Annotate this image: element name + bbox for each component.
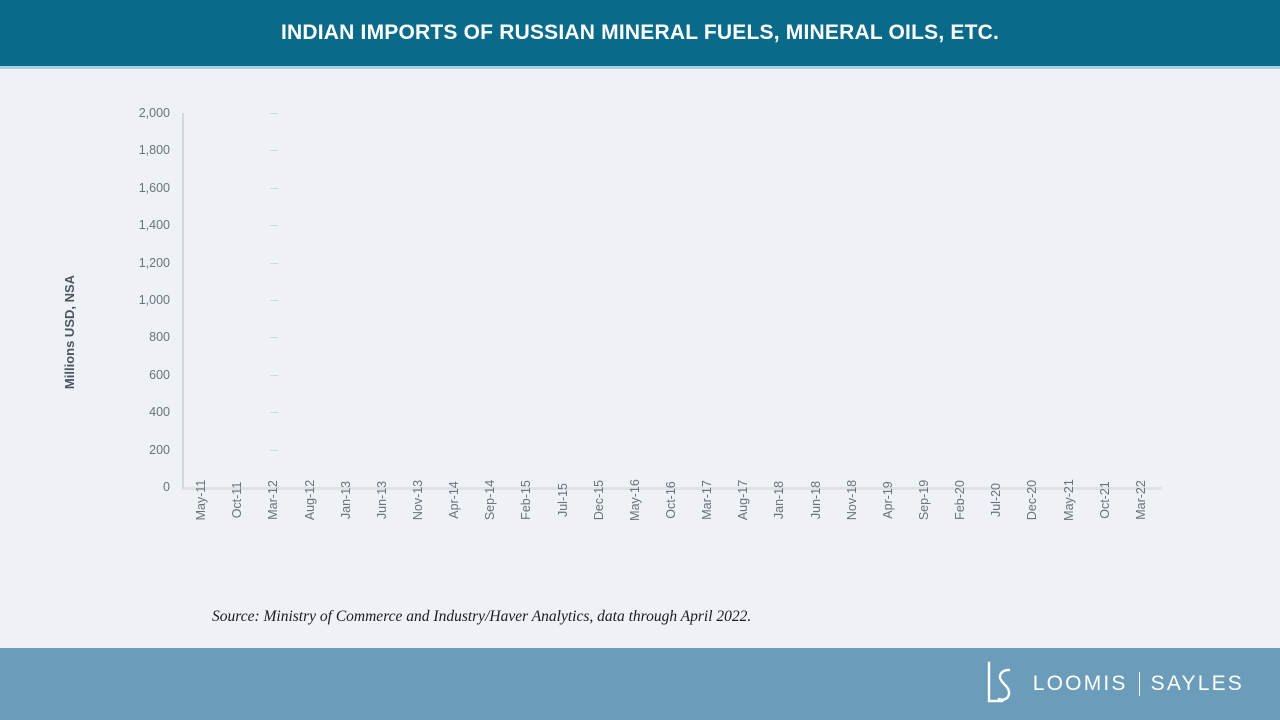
x-axis-tick-label: Nov-13 <box>411 465 425 535</box>
chart-region: Millions USD, NSA 2,0001,8001,6001,4001,… <box>0 72 1280 648</box>
x-axis-tick-label: Feb-20 <box>953 465 967 535</box>
y-axis-tick-label: 1,000 <box>96 291 170 309</box>
footer-bar: LOOMIS SAYLES <box>0 648 1280 720</box>
x-axis-tick-label: Aug-12 <box>303 465 317 535</box>
x-axis-tick-label: Oct-11 <box>230 465 244 535</box>
x-axis-tick-label: Oct-21 <box>1098 465 1112 535</box>
x-axis-tick-label: Feb-15 <box>519 465 533 535</box>
plot-area <box>182 113 1162 490</box>
x-axis-tick-label: May-16 <box>628 465 642 535</box>
x-axis-tick-label: Apr-14 <box>447 465 461 535</box>
x-axis-tick-label: Jun-13 <box>375 465 389 535</box>
x-axis-tick-label: Oct-16 <box>664 465 678 535</box>
brand-name-sayles: SAYLES <box>1151 672 1244 696</box>
page-title: INDIAN IMPORTS OF RUSSIAN MINERAL FUELS,… <box>281 21 999 45</box>
x-axis-tick-label: Jul-15 <box>556 465 570 535</box>
brand-divider <box>1139 672 1140 696</box>
ls-monogram-icon <box>985 661 1019 707</box>
y-axis-tick-label: 200 <box>96 441 170 459</box>
x-axis-tick-label: May-11 <box>194 465 208 535</box>
header-bar: INDIAN IMPORTS OF RUSSIAN MINERAL FUELS,… <box>0 0 1280 69</box>
x-axis-tick-label: Jun-18 <box>809 465 823 535</box>
y-axis-tick-label: 1,200 <box>96 254 170 272</box>
brand-logo: LOOMIS SAYLES <box>985 648 1244 720</box>
x-axis-tick-label: Sep-19 <box>917 465 931 535</box>
data-series-layer <box>184 113 1162 487</box>
x-axis-tick-label: Mar-17 <box>700 465 714 535</box>
y-axis-tick-label: 600 <box>96 366 170 384</box>
y-axis-tick-label: 800 <box>96 328 170 346</box>
x-axis-tick-label: Dec-15 <box>592 465 606 535</box>
brand-name-loomis: LOOMIS <box>1033 672 1128 696</box>
x-axis-tick-labels: May-11Oct-11Mar-12Aug-12Jan-13Jun-13Nov-… <box>0 492 1280 582</box>
x-axis-tick-label: May-21 <box>1062 465 1076 535</box>
x-axis-tick-label: Aug-17 <box>736 465 750 535</box>
x-axis-tick-label: Mar-12 <box>266 465 280 535</box>
x-axis-tick-label: Dec-20 <box>1025 465 1039 535</box>
y-axis-tick-label: 1,800 <box>96 141 170 159</box>
brand-wordmark: LOOMIS SAYLES <box>1033 672 1244 696</box>
x-axis-tick-label: Jan-13 <box>339 465 353 535</box>
source-note: Source: Ministry of Commerce and Industr… <box>212 608 751 626</box>
x-axis-tick-label: Jul-20 <box>989 465 1003 535</box>
x-axis-tick-label: Nov-18 <box>845 465 859 535</box>
x-axis-tick-label: Mar-22 <box>1134 465 1148 535</box>
y-axis-tick-label: 2,000 <box>96 104 170 122</box>
y-axis-tick-labels: 2,0001,8001,6001,4001,2001,0008006004002… <box>96 104 170 496</box>
y-axis-tick-label: 400 <box>96 403 170 421</box>
x-axis-tick-label: Apr-19 <box>881 465 895 535</box>
y-axis-tick-label: 1,400 <box>96 216 170 234</box>
x-axis-tick-label: Sep-14 <box>483 465 497 535</box>
y-axis-title: Millions USD, NSA <box>62 222 84 442</box>
y-axis-tick-label: 1,600 <box>96 179 170 197</box>
x-axis-tick-label: Jan-18 <box>772 465 786 535</box>
